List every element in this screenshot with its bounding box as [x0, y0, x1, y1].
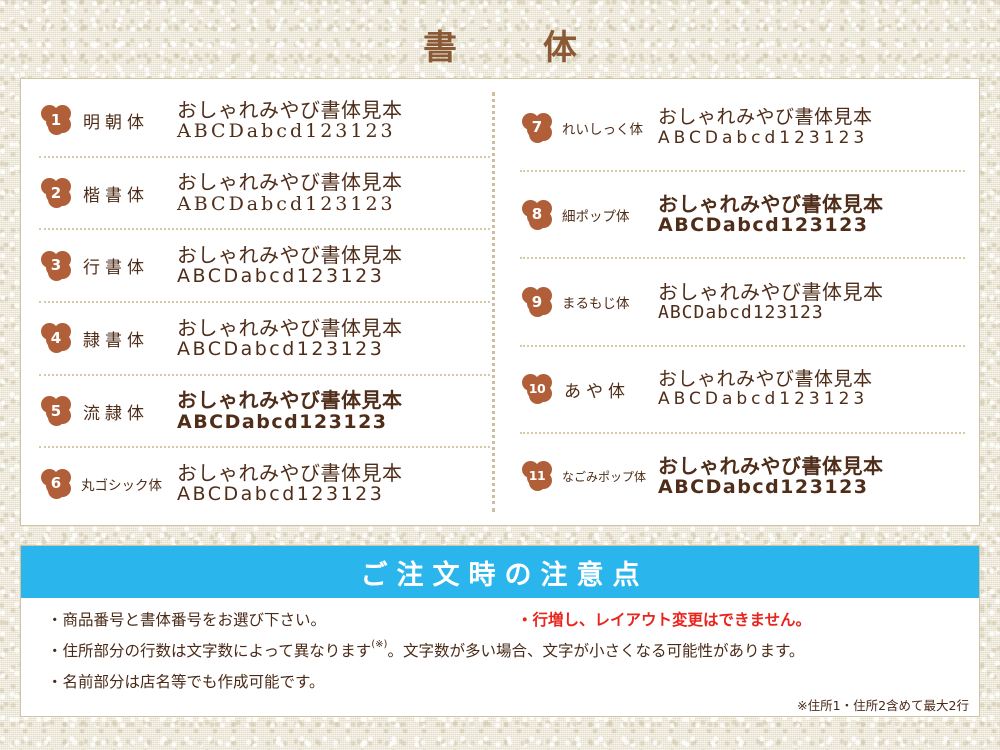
- font-number: 1: [39, 103, 73, 137]
- font-sample-japanese: おしゃれみやび書体見本: [177, 171, 490, 193]
- font-sample-japanese: おしゃれみやび書体見本: [658, 193, 965, 215]
- font-sample-latin: ABCDabcd123123: [177, 121, 490, 142]
- font-row-4[interactable]: 4隷書体おしゃれみやび書体見本ABCDabcd123123: [39, 303, 490, 376]
- font-sample: おしゃれみやび書体見本ABCDabcd123123: [658, 369, 965, 409]
- font-number: 4: [39, 321, 73, 355]
- font-sample: おしゃれみやび書体見本ABCDabcd123123: [658, 455, 965, 499]
- font-sample-latin: ABCDabcd123123: [658, 303, 965, 323]
- font-row-10[interactable]: 10あや体おしゃれみやび書体見本ABCDabcd123123: [520, 347, 965, 434]
- font-sample-japanese: おしゃれみやび書体見本: [177, 317, 490, 339]
- font-sample: おしゃれみやび書体見本ABCDabcd123123: [177, 462, 490, 506]
- note-item-name-shopname: ・名前部分は店名等でも作成可能です。: [47, 670, 324, 692]
- font-sample-latin: ABCDabcd123123: [177, 339, 490, 360]
- note-row-1: ・商品番号と書体番号をお選び下さい。 ・行増し、レイアウト変更はできません。: [47, 608, 953, 630]
- font-name-label: なごみポップ体: [562, 468, 658, 485]
- note-item-address-lines: ・住所部分の行数は文字数によって異なります: [47, 639, 371, 661]
- font-sample: おしゃれみやび書体見本ABCDabcd123123: [658, 107, 965, 147]
- order-notes-card: ご注文時の注意点 ・商品番号と書体番号をお選び下さい。 ・行増し、レイアウト変更…: [20, 545, 980, 717]
- flower-badge-icon: 3: [39, 249, 73, 283]
- flower-badge-icon: 8: [520, 198, 554, 232]
- font-name-label: 細ポップ体: [562, 205, 658, 225]
- note-item-no-layout-change: ・行増し、レイアウト変更はできません。: [517, 608, 811, 630]
- font-name-label: まるもじ体: [562, 292, 658, 312]
- font-name-label: あや体: [562, 377, 658, 402]
- note-item-address-lines-cont: 。文字数が多い場合、文字が小さくなる可能性があります。: [387, 639, 804, 661]
- font-sample: おしゃれみやび書体見本ABCDabcd123123: [177, 99, 490, 143]
- font-column-left: 1明朝体おしゃれみやび書体見本ABCDabcd1231232楷書体おしゃれみやび…: [21, 79, 500, 525]
- font-name-label: れいしっく体: [562, 118, 658, 138]
- font-name-label: 楷書体: [81, 181, 177, 206]
- font-sample-japanese: おしゃれみやび書体見本: [177, 244, 490, 266]
- column-divider: [492, 92, 495, 512]
- font-name-label: 流隷体: [81, 399, 177, 424]
- font-row-2[interactable]: 2楷書体おしゃれみやび書体見本ABCDabcd123123: [39, 158, 490, 231]
- font-number: 11: [520, 459, 554, 493]
- font-sample-latin: ABCDabcd123123: [177, 266, 490, 287]
- font-row-9[interactable]: 9まるもじ体おしゃれみやび書体見本ABCDabcd123123: [520, 259, 965, 346]
- font-number: 2: [39, 176, 73, 210]
- font-row-7[interactable]: 7れいしっく体おしゃれみやび書体見本ABCDabcd123123: [520, 85, 965, 172]
- font-sample: おしゃれみやび書体見本ABCDabcd123123: [177, 244, 490, 288]
- note-footnote: ※住所1・住所2含めて最大2行: [797, 695, 969, 714]
- note-asterisk-marker: (※): [371, 639, 387, 661]
- font-sample-japanese: おしゃれみやび書体見本: [658, 107, 965, 128]
- font-row-1[interactable]: 1明朝体おしゃれみやび書体見本ABCDabcd123123: [39, 85, 490, 158]
- order-notes-body: ・商品番号と書体番号をお選び下さい。 ・行増し、レイアウト変更はできません。 ・…: [21, 598, 979, 718]
- font-number: 10: [520, 372, 554, 406]
- font-row-11[interactable]: 11なごみポップ体おしゃれみやび書体見本ABCDabcd123123: [520, 434, 965, 519]
- page-root: 書 体 1明朝体おしゃれみやび書体見本ABCDabcd1231232楷書体おしゃ…: [0, 0, 1000, 750]
- font-sample: おしゃれみやび書体見本ABCDabcd123123: [177, 389, 490, 433]
- flower-badge-icon: 1: [39, 103, 73, 137]
- font-sample-latin: ABCDabcd123123: [658, 215, 965, 236]
- font-sample-japanese: おしゃれみやび書体見本: [177, 99, 490, 121]
- page-title: 書 体: [0, 0, 1000, 58]
- font-sample-latin: ABCDabcd123123: [658, 390, 965, 409]
- font-sample: おしゃれみやび書体見本ABCDabcd123123: [658, 281, 965, 324]
- font-column-right: 7れいしっく体おしゃれみやび書体見本ABCDabcd1231238細ポップ体おし…: [500, 79, 979, 525]
- order-notes-banner: ご注文時の注意点: [21, 546, 979, 598]
- font-sample: おしゃれみやび書体見本ABCDabcd123123: [177, 317, 490, 361]
- font-list-card: 1明朝体おしゃれみやび書体見本ABCDabcd1231232楷書体おしゃれみやび…: [20, 78, 980, 526]
- font-row-6[interactable]: 6丸ゴシック体おしゃれみやび書体見本ABCDabcd123123: [39, 448, 490, 519]
- font-sample-latin: ABCDabcd123123: [177, 484, 490, 505]
- font-number: 9: [520, 285, 554, 319]
- font-row-8[interactable]: 8細ポップ体おしゃれみやび書体見本ABCDabcd123123: [520, 172, 965, 259]
- font-sample-japanese: おしゃれみやび書体見本: [658, 281, 965, 303]
- font-sample-japanese: おしゃれみやび書体見本: [658, 369, 965, 390]
- note-row-2: ・住所部分の行数は文字数によって異なります (※) 。文字数が多い場合、文字が小…: [47, 639, 953, 661]
- font-name-label: 明朝体: [81, 108, 177, 133]
- flower-badge-icon: 2: [39, 176, 73, 210]
- font-sample-latin: ABCDabcd123123: [177, 412, 490, 433]
- flower-badge-icon: 5: [39, 394, 73, 428]
- flower-badge-icon: 7: [520, 111, 554, 145]
- font-sample-latin: ABCDabcd123123: [177, 194, 490, 215]
- font-number: 6: [39, 467, 73, 501]
- order-notes-title: ご注文時の注意点: [352, 553, 649, 592]
- font-sample-latin: ABCDabcd123123: [658, 129, 965, 148]
- font-row-3[interactable]: 3行書体おしゃれみやび書体見本ABCDabcd123123: [39, 230, 490, 303]
- font-number: 3: [39, 249, 73, 283]
- font-sample-latin: ABCDabcd123123: [658, 477, 965, 498]
- flower-badge-icon: 10: [520, 372, 554, 406]
- font-sample: おしゃれみやび書体見本ABCDabcd123123: [658, 193, 965, 237]
- font-name-label: 丸ゴシック体: [81, 474, 177, 494]
- font-name-label: 隷書体: [81, 326, 177, 351]
- font-row-5[interactable]: 5流隷体おしゃれみやび書体見本ABCDabcd123123: [39, 376, 490, 449]
- font-number: 7: [520, 111, 554, 145]
- note-item-product-number: ・商品番号と書体番号をお選び下さい。: [47, 608, 517, 630]
- flower-badge-icon: 9: [520, 285, 554, 319]
- note-row-3: ・名前部分は店名等でも作成可能です。: [47, 670, 953, 692]
- font-name-label: 行書体: [81, 253, 177, 278]
- font-number: 8: [520, 198, 554, 232]
- font-columns: 1明朝体おしゃれみやび書体見本ABCDabcd1231232楷書体おしゃれみやび…: [21, 79, 979, 525]
- font-sample-japanese: おしゃれみやび書体見本: [658, 455, 965, 477]
- flower-badge-icon: 4: [39, 321, 73, 355]
- flower-badge-icon: 11: [520, 459, 554, 493]
- font-number: 5: [39, 394, 73, 428]
- flower-badge-icon: 6: [39, 467, 73, 501]
- font-sample: おしゃれみやび書体見本ABCDabcd123123: [177, 171, 490, 215]
- font-sample-japanese: おしゃれみやび書体見本: [177, 462, 490, 484]
- font-sample-japanese: おしゃれみやび書体見本: [177, 389, 490, 411]
